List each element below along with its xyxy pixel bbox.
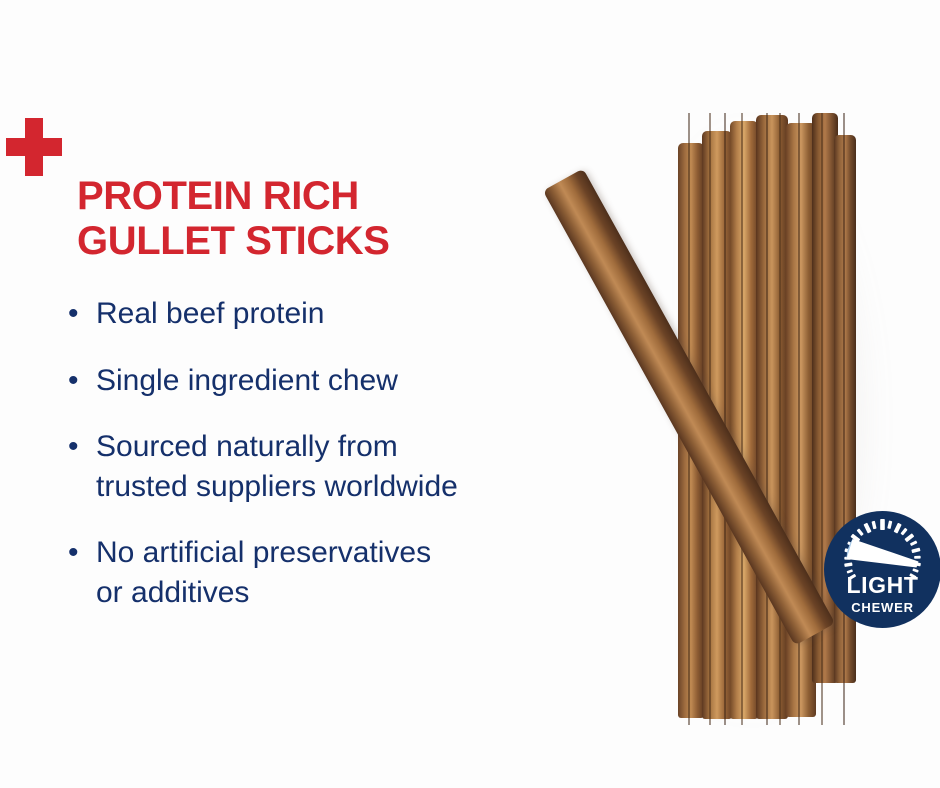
headline: PROTEIN RICH GULLET STICKS (77, 174, 507, 264)
headline-line-2: GULLET STICKS (77, 219, 507, 264)
feature-bullet-list: • Real beef protein • Single ingredient … (68, 294, 608, 613)
badge-level-label: LIGHT (824, 574, 940, 597)
plus-vertical-bar (25, 118, 43, 176)
gauge-needle (847, 539, 919, 568)
headline-line-1: PROTEIN RICH (77, 174, 507, 219)
list-item-label: Sourced naturally from trusted suppliers… (96, 427, 608, 506)
list-item-label: No artificial preservatives or additives (96, 533, 608, 612)
chewer-level-badge: LIGHT CHEWER (824, 511, 940, 628)
list-item: • Sourced naturally from trusted supplie… (68, 427, 608, 506)
list-item: • No artificial preservatives or additiv… (68, 533, 608, 612)
bullet-dot-icon: • (68, 294, 96, 334)
plus-cross-icon (6, 118, 62, 176)
stick-diagonal (543, 168, 835, 645)
list-item: • Real beef protein (68, 294, 608, 334)
bullet-dot-icon: • (68, 427, 96, 467)
badge-type-label: CHEWER (824, 601, 940, 614)
list-item: • Single ingredient chew (68, 361, 608, 401)
bullet-dot-icon: • (68, 533, 96, 573)
list-item-label: Real beef protein (96, 294, 608, 334)
product-feature-card: PROTEIN RICH GULLET STICKS • Real beef p… (0, 0, 940, 788)
bullet-dot-icon: • (68, 361, 96, 401)
list-item-label: Single ingredient chew (96, 361, 608, 401)
